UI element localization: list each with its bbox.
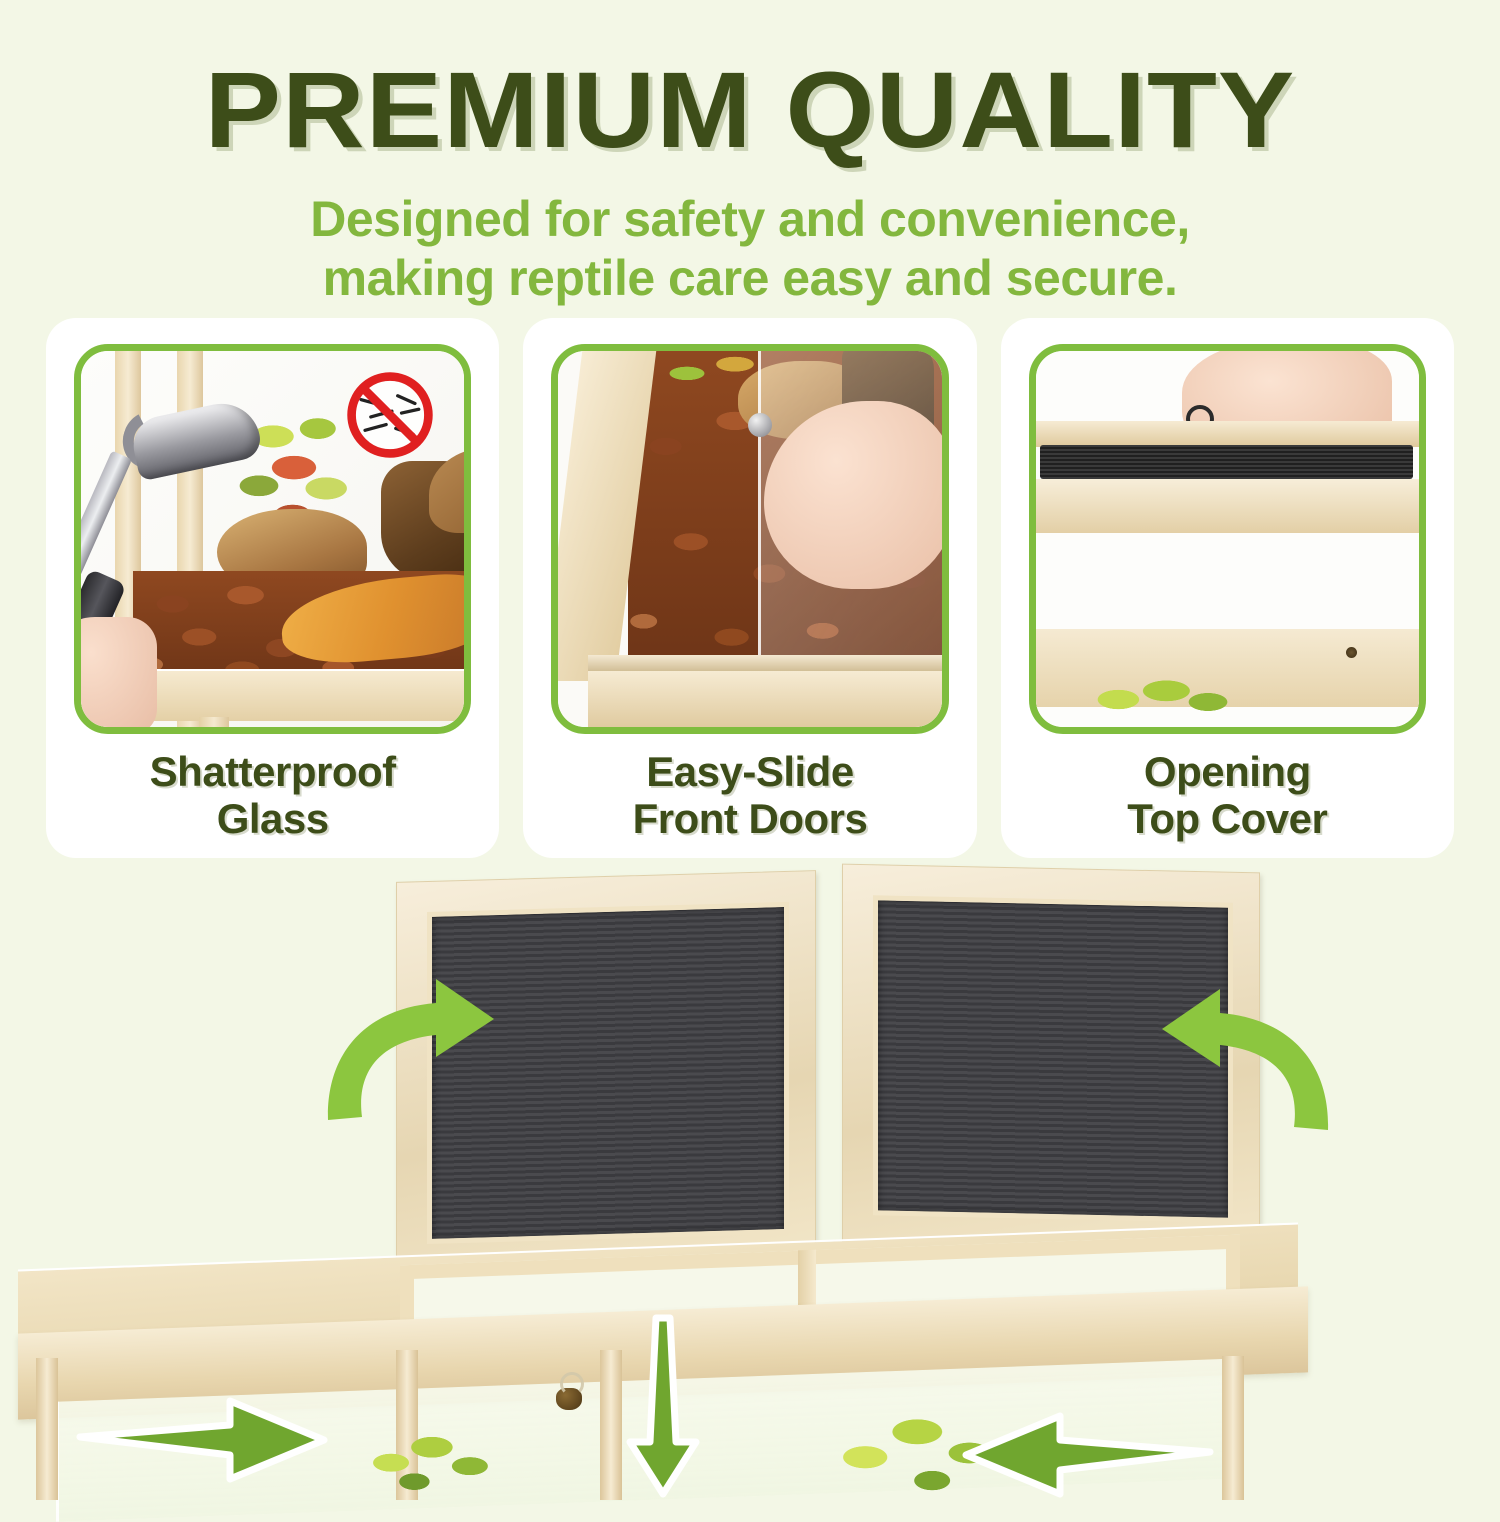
wood-base-rail (588, 671, 941, 727)
wood-frame-rail (1036, 479, 1419, 533)
glass-gap (1036, 533, 1419, 633)
wood-base-rail (129, 669, 464, 721)
feature-card-easy-slide-front-doors[interactable]: Easy-Slide Front Doors (523, 318, 976, 858)
arrow-lid-left (318, 965, 538, 1125)
door-knob (748, 413, 772, 437)
terrarium-post-left (36, 1358, 58, 1500)
page-title: PREMIUM QUALITY (0, 0, 1500, 164)
terrarium-post-right (1222, 1356, 1244, 1500)
card-label-easy-slide-front-doors: Easy-Slide Front Doors (633, 748, 868, 842)
arrow-left (80, 1385, 330, 1495)
feature-card-opening-top-cover[interactable]: Opening Top Cover (1001, 318, 1454, 858)
arrow-down (608, 1318, 718, 1498)
subtitle-line-2: making reptile care easy and secure. (0, 249, 1500, 308)
card-label-opening-top-cover: Opening Top Cover (1127, 748, 1327, 842)
feature-cards: Shatterproof Glass Easy-Slide Front Door… (46, 318, 1454, 858)
card-photo-easy-slide-front-doors (551, 344, 948, 734)
artificial-plant (1080, 671, 1240, 733)
hand-holding-hammer (74, 617, 157, 734)
wood-top-rail (1036, 421, 1419, 447)
no-crack-prohibition-icon (342, 367, 438, 463)
mesh-top-cover (1040, 445, 1413, 479)
card-label-shatterproof-glass: Shatterproof Glass (150, 748, 396, 842)
card-photo-opening-top-cover (1029, 344, 1426, 734)
arrow-right (960, 1400, 1210, 1510)
wood-leg (199, 717, 229, 727)
page-subtitle: Designed for safety and convenience, mak… (0, 190, 1500, 308)
screw-head (1346, 647, 1357, 658)
arrow-lid-right (1128, 975, 1338, 1135)
terrarium-plant-left (356, 1418, 502, 1504)
card-photo-shatterproof-glass (74, 344, 471, 734)
feature-card-shatterproof-glass[interactable]: Shatterproof Glass (46, 318, 499, 858)
door-lock-latch[interactable] (556, 1388, 582, 1410)
subtitle-line-1: Designed for safety and convenience, (0, 190, 1500, 249)
